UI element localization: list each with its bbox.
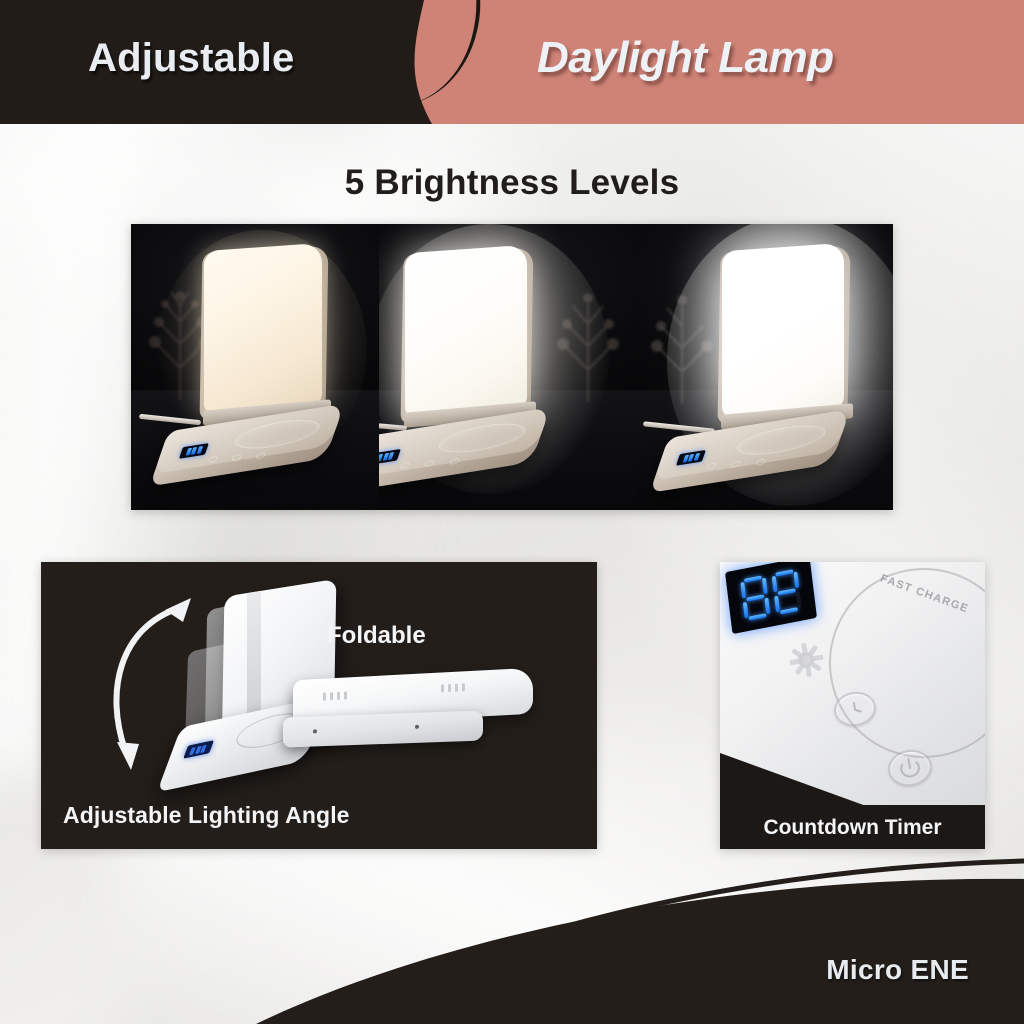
brightness-sun-icon[interactable] — [785, 639, 827, 681]
lamp-unit — [379, 237, 637, 492]
header-right-title: Daylight Lamp — [537, 33, 834, 83]
adjustable-angle-card: Adjustable Lighting Angle Foldable — [41, 562, 597, 849]
countdown-digit-1 — [740, 575, 771, 622]
lamp-light-panel — [722, 243, 844, 418]
section-title-brightness: 5 Brightness Levels — [0, 163, 1024, 203]
header-banner: Adjustable Daylight Lamp — [0, 0, 1024, 124]
adjustable-angle-label: Adjustable Lighting Angle — [63, 802, 350, 829]
brand-name: Micro ENE — [826, 954, 969, 986]
countdown-timer-card: FAST CHARGE — [720, 562, 985, 849]
header-left-title: Adjustable — [88, 36, 294, 81]
countdown-timer-label: Countdown Timer — [720, 816, 985, 840]
lcd-display — [183, 741, 214, 760]
brand-swoosh-shape — [0, 849, 1024, 1024]
brand-footer: Micro ENE — [0, 849, 1024, 1024]
infographic-page: Adjustable Daylight Lamp 5 Brightness Le… — [0, 0, 1024, 1024]
lamp-unit — [637, 237, 893, 492]
foldable-label: Foldable — [327, 622, 426, 650]
lamp-unit — [131, 237, 379, 492]
brightness-level-high — [637, 224, 893, 510]
screw-dot-left — [313, 729, 317, 733]
vent-slots-left — [323, 691, 347, 700]
lamp-light-panel — [405, 245, 527, 418]
brightness-levels-image-strip — [131, 224, 893, 510]
power-cable — [139, 414, 201, 425]
screw-dot-right — [415, 725, 419, 729]
folded-lamp-bottom — [283, 711, 483, 748]
vent-slots-right — [441, 683, 465, 692]
brightness-level-medium — [379, 224, 637, 510]
countdown-digit-2 — [771, 569, 802, 616]
lamp-light-panel — [204, 243, 322, 414]
brightness-level-low — [131, 224, 379, 510]
